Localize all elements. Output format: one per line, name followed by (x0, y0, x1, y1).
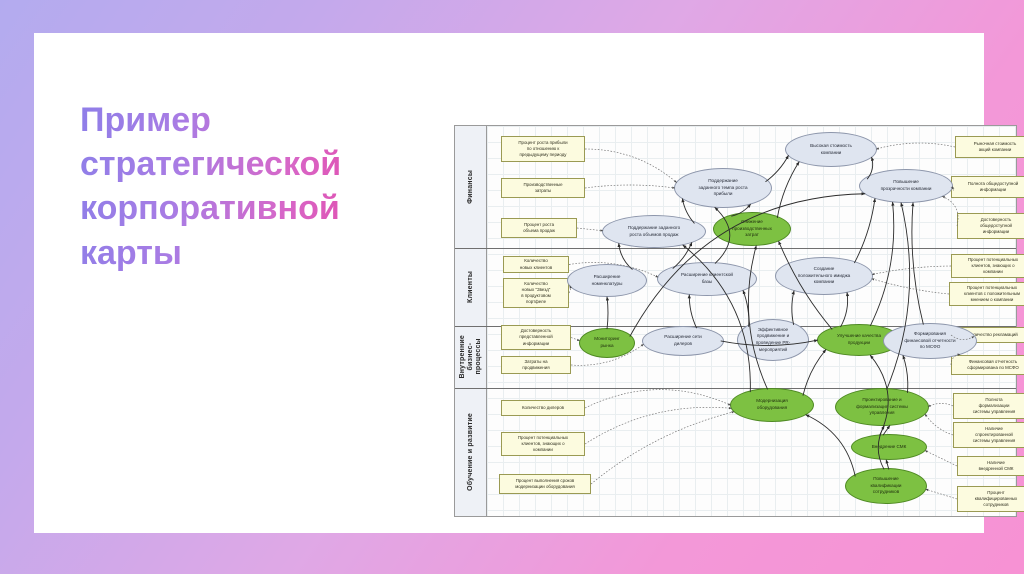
band-divider (455, 248, 1016, 249)
objective-node-highlighted[interactable]: Снижение производственных затрат (713, 212, 791, 246)
kpi-measure-box[interactable]: Полнота формализации системы управления (953, 393, 1024, 419)
perspective-label-2: Клиенты (455, 248, 487, 326)
perspective-label-4: Обучение и развитие (455, 388, 487, 516)
band-divider (455, 388, 1016, 389)
kpi-measure-box[interactable]: Количество новых клиентов (503, 256, 569, 273)
strategy-map-diagram: ФинансыКлиентыВнутренние бизнес- процесс… (454, 125, 1017, 517)
objective-node[interactable]: Расширение сети дилеров (642, 326, 724, 356)
objective-node[interactable]: Создание положительного имиджа компании (775, 257, 873, 295)
kpi-measure-box[interactable]: Процент роста прибыли по отношению к пре… (501, 136, 585, 162)
objective-node-highlighted[interactable]: Проектирование и формализация системы уп… (835, 388, 929, 426)
kpi-measure-box[interactable]: Достоверность представленной информации (501, 325, 571, 350)
kpi-measure-box[interactable]: Достоверность общедоступной информации (957, 213, 1024, 239)
objective-node[interactable]: Поддержание заданного темпа роста прибыл… (674, 168, 772, 208)
objective-node[interactable]: Формирования финансовой отчетности по МС… (883, 323, 977, 359)
perspective-label-text: Обучение и развитие (467, 413, 475, 491)
perspective-label-3: Внутренние бизнес- процессы (455, 326, 487, 388)
slide-card: Пример стратегической корпоративной карт… (34, 33, 984, 533)
objective-node[interactable]: Эффективное продвижение и проведение PR-… (737, 319, 809, 361)
kpi-measure-box[interactable]: Процент квалифицированных сотрудников (957, 486, 1024, 512)
kpi-measure-box[interactable]: Затраты на продвижения (501, 356, 571, 374)
perspective-label-text: Внутренние бизнес- процессы (459, 335, 483, 379)
objective-node-highlighted[interactable]: Внедрение СМК (851, 434, 927, 460)
objective-node-highlighted[interactable]: Повышение квалификации сотрудников (845, 468, 927, 504)
objective-node[interactable]: Расширение номенклатуры (567, 264, 647, 297)
objective-node-highlighted[interactable]: Модернизация оборудования (730, 388, 814, 422)
kpi-measure-box[interactable]: Полнота общедоступной информации (951, 176, 1024, 198)
kpi-measure-box[interactable]: Рыночная стоимость акций компании (955, 136, 1024, 158)
objective-node[interactable]: Повышение прозрачности компании (859, 169, 953, 203)
kpi-measure-box[interactable]: Финансовая отчетность сформирована по МС… (951, 355, 1024, 375)
objective-node[interactable]: Высокая стоимость компании (785, 132, 877, 167)
perspective-label-text: Клиенты (467, 271, 475, 303)
objective-node-highlighted[interactable]: Мониторинг рынка (579, 328, 635, 358)
kpi-measure-box[interactable]: Наличие спроектированной системы управле… (953, 422, 1024, 448)
kpi-measure-box[interactable]: Производственные затраты (501, 178, 585, 198)
perspective-label-column: ФинансыКлиентыВнутренние бизнес- процесс… (455, 126, 487, 516)
perspective-label-1: Финансы (455, 126, 487, 248)
kpi-measure-box[interactable]: Процент выполнения сроков модернизации о… (499, 474, 591, 494)
objective-node[interactable]: Поддержание заданного роста объемов прод… (602, 215, 706, 248)
kpi-measure-box[interactable]: Процент потенциальных клиентов, знающих … (951, 254, 1024, 278)
kpi-measure-box[interactable]: Процент потенциальных клиентов с положит… (949, 282, 1024, 306)
kpi-measure-box[interactable]: Наличие внедренной СМК (957, 456, 1024, 476)
kpi-measure-box[interactable]: Процент роста объема продаж (501, 218, 577, 238)
page-title: Пример стратегической корпоративной карт… (80, 98, 410, 275)
kpi-measure-box[interactable]: Количество дилеров (501, 400, 585, 416)
objective-node[interactable]: Расширение клиентской базы (657, 262, 757, 296)
perspective-label-text: Финансы (467, 170, 475, 204)
kpi-measure-box[interactable]: Процент потенциальных клиентов, знающих … (501, 432, 585, 456)
kpi-measure-box[interactable]: Количество новых "Звезд" в продуктовом п… (503, 278, 569, 308)
